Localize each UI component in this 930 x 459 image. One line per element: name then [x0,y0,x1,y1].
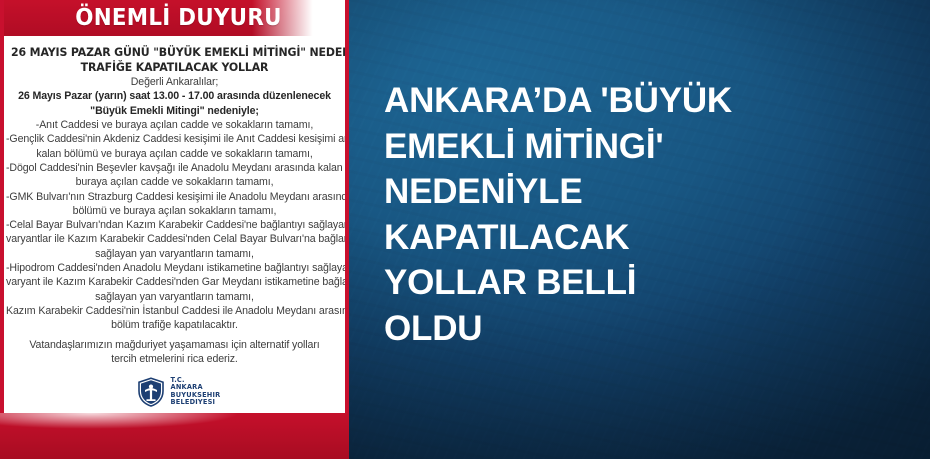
headline-line: OLDU [384,306,904,352]
banner-label: ÖNEMLİ DUYURU [16,0,341,36]
poster-sheet: ÖNEMLİ DUYURU 26 MAYIS PAZAR GÜNÜ "BÜYÜK… [4,0,345,415]
poster-body-line: kalan bölümü ve buraya açılan cadde ve s… [6,147,343,161]
announcement-poster: ÖNEMLİ DUYURU 26 MAYIS PAZAR GÜNÜ "BÜYÜK… [0,0,349,459]
poster-closing-line: tercih etmelerini rica ederiz. [6,352,343,366]
poster-body-line: buraya açılan cadde ve sokakların tamamı… [6,175,343,189]
poster-banner: ÖNEMLİ DUYURU [4,0,345,40]
headline-panel: ANKARA’DA 'BÜYÜK EMEKLİ MİTİNGİ' NEDENİY… [349,0,930,459]
poster-body-line: varyantlar ile Kazım Karabekir Caddesi'n… [6,232,343,246]
logo-wordmark: T.C. ANKARA BUYUKSEHIR BELEDIYESI [171,377,221,407]
poster-body-line: -Anıt Caddesi ve buraya açılan cadde ve … [6,118,343,132]
poster-heading-line-2: TRAFİĞE KAPATILACAK YOLLAR [11,61,338,76]
poster-intro-line-1: 26 Mayıs Pazar (yarın) saat 13.00 - 17.0… [6,89,343,103]
poster-body-line: -Gençlik Caddesi'nin Akdeniz Caddesi kes… [6,132,343,146]
poster-body-line: -Dögol Caddesi'nin Beşevler kavşağı ile … [6,161,343,175]
headline-line: ANKARA’DA 'BÜYÜK [384,78,904,124]
poster-body-line: -Celal Bayar Bulvarı'ndan Kazım Karabeki… [6,218,343,232]
ankara-municipality-seal-icon [137,377,165,407]
news-card: ÖNEMLİ DUYURU 26 MAYIS PAZAR GÜNÜ "BÜYÜK… [0,0,930,459]
headline-line: EMEKLİ MİTİNGİ' [384,124,904,170]
poster-heading-line-1: 26 MAYIS PAZAR GÜNÜ "BÜYÜK EMEKLİ MİTİNG… [11,46,338,61]
poster-body-line: sağlayan yan varyantların tamamı, [6,290,343,304]
headline-title: ANKARA’DA 'BÜYÜK EMEKLİ MİTİNGİ' NEDENİY… [384,78,904,351]
poster-body-line: varyant ile Kazım Karabekir Caddesi'nden… [6,275,343,289]
poster-footer-glow [0,413,240,429]
poster-body-line: -Hipodrom Caddesi'nden Anadolu Meydanı i… [6,261,343,275]
poster-footer-bar [0,413,349,459]
poster-body: 26 MAYIS PAZAR GÜNÜ "BÜYÜK EMEKLİ MİTİNG… [4,40,345,366]
headline-line: NEDENİYLE [384,169,904,215]
logo-line-4: BELEDIYESI [171,399,221,407]
poster-body-line: bölümü ve buraya açılan sokakların tamam… [6,204,343,218]
poster-salutation: Değerli Ankaralılar; [6,75,343,89]
poster-intro-line-2: "Büyük Emekli Mitingi" nedeniyle; [6,104,343,118]
poster-body-line: Kazım Karabekir Caddesi'nin İstanbul Cad… [6,304,343,318]
headline-line: YOLLAR BELLİ [384,260,904,306]
municipality-logo: T.C. ANKARA BUYUKSEHIR BELEDIYESI [4,377,345,407]
poster-body-line: sağlayan yan varyantların tamamı, [6,247,343,261]
poster-closing-line: Vatandaşlarımızın mağduriyet yaşamaması … [6,338,343,352]
poster-body-line: -GMK Bulvarı'nın Strazburg Caddesi kesiş… [6,190,343,204]
poster-body-line: bölüm trafiğe kapatılacaktır. [6,318,343,332]
headline-line: KAPATILACAK [384,215,904,261]
